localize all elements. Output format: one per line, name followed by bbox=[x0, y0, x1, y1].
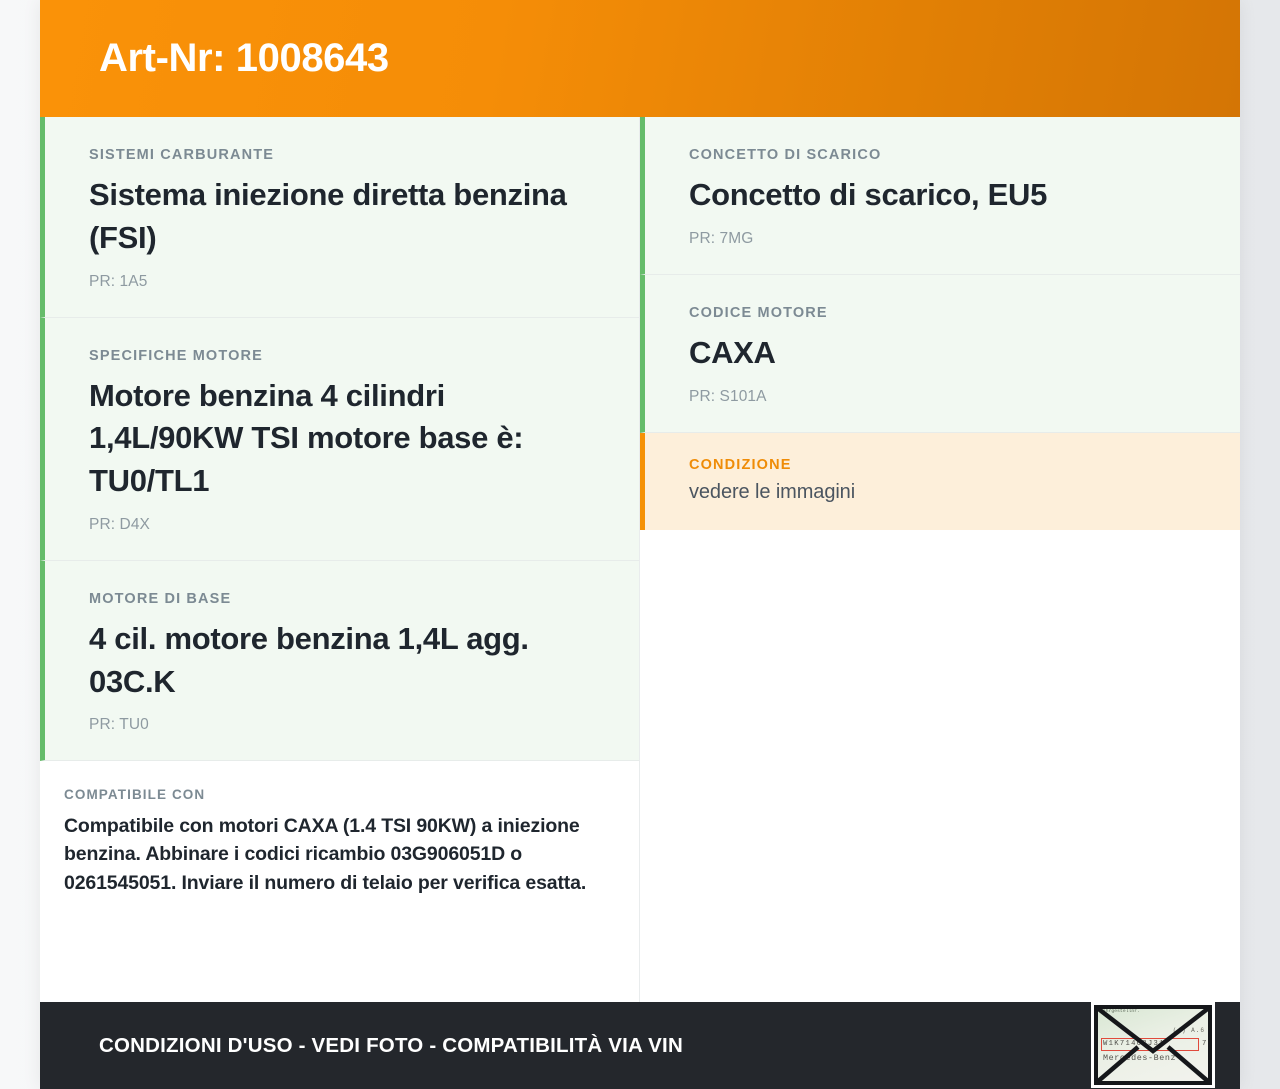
product-spec-sheet: Art-Nr: 1008643 SISTEMI CARBURANTE Siste… bbox=[40, 0, 1240, 1089]
right-column-spacer bbox=[640, 530, 1240, 1002]
spec-card-value: CAXA bbox=[689, 332, 1196, 375]
spec-card-pr-code: PR: D4X bbox=[89, 516, 595, 534]
compatibility-label: COMPATIBILE CON bbox=[64, 787, 595, 802]
spec-card-base-engine[interactable]: MOTORE DI BASE 4 cil. motore benzina 1,4… bbox=[40, 561, 639, 762]
spec-card-label: SISTEMI CARBURANTE bbox=[89, 147, 595, 163]
spec-card-label: MOTORE DI BASE bbox=[89, 591, 595, 607]
header-banner: Art-Nr: 1008643 bbox=[40, 0, 1240, 117]
spec-card-label: CODICE MOTORE bbox=[689, 305, 1196, 321]
left-column-spacer bbox=[40, 927, 639, 1002]
compatibility-section: COMPATIBILE CON Compatibile con motori C… bbox=[40, 761, 639, 926]
spec-card-pr-code: PR: TU0 bbox=[89, 716, 595, 734]
envelope-icon bbox=[1094, 1005, 1212, 1085]
spec-card-value: 4 cil. motore benzina 1,4L agg. 03C.K bbox=[89, 618, 595, 704]
condition-card[interactable]: CONDIZIONE vedere le immagini bbox=[640, 433, 1240, 530]
spec-card-fuel-system[interactable]: SISTEMI CARBURANTE Sistema iniezione dir… bbox=[40, 117, 639, 318]
spec-card-pr-code: PR: 7MG bbox=[689, 230, 1196, 248]
spec-card-value: Concetto di scarico, EU5 bbox=[689, 174, 1196, 217]
left-column: SISTEMI CARBURANTE Sistema iniezione dir… bbox=[40, 117, 640, 1002]
spec-card-pr-code: PR: S101A bbox=[689, 388, 1196, 406]
vin-envelope-logo[interactable]: Fahrgestellnr. (4) A.6 W1K71463J31 7 Mer… bbox=[1091, 1002, 1215, 1088]
spec-card-value: Sistema iniezione diretta benzina (FSI) bbox=[89, 174, 595, 260]
footer-bar: CONDIZIONI D'USO - VEDI FOTO - COMPATIBI… bbox=[40, 1002, 1240, 1089]
spec-card-exhaust-concept[interactable]: CONCETTO DI SCARICO Concetto di scarico,… bbox=[640, 117, 1240, 275]
right-column: CONCETTO DI SCARICO Concetto di scarico,… bbox=[640, 117, 1240, 1002]
compatibility-text: Compatibile con motori CAXA (1.4 TSI 90K… bbox=[64, 812, 595, 896]
condition-value: vedere le immagini bbox=[689, 481, 1196, 504]
spec-columns: SISTEMI CARBURANTE Sistema iniezione dir… bbox=[40, 117, 1240, 1002]
spec-card-pr-code: PR: 1A5 bbox=[89, 273, 595, 291]
spec-card-engine-specification[interactable]: SPECIFICHE MOTORE Motore benzina 4 cilin… bbox=[40, 318, 639, 561]
condition-label: CONDIZIONE bbox=[689, 457, 1196, 473]
spec-card-value: Motore benzina 4 cilindri 1,4L/90KW TSI … bbox=[89, 375, 595, 503]
spec-card-label: CONCETTO DI SCARICO bbox=[689, 147, 1196, 163]
logo-canvas: Fahrgestellnr. (4) A.6 W1K71463J31 7 Mer… bbox=[1094, 1005, 1212, 1085]
footer-notice-text: CONDIZIONI D'USO - VEDI FOTO - COMPATIBI… bbox=[99, 1034, 683, 1058]
spec-card-label: SPECIFICHE MOTORE bbox=[89, 348, 595, 364]
page-title: Art-Nr: 1008643 bbox=[99, 36, 389, 81]
spec-card-engine-code[interactable]: CODICE MOTORE CAXA PR: S101A bbox=[640, 275, 1240, 433]
